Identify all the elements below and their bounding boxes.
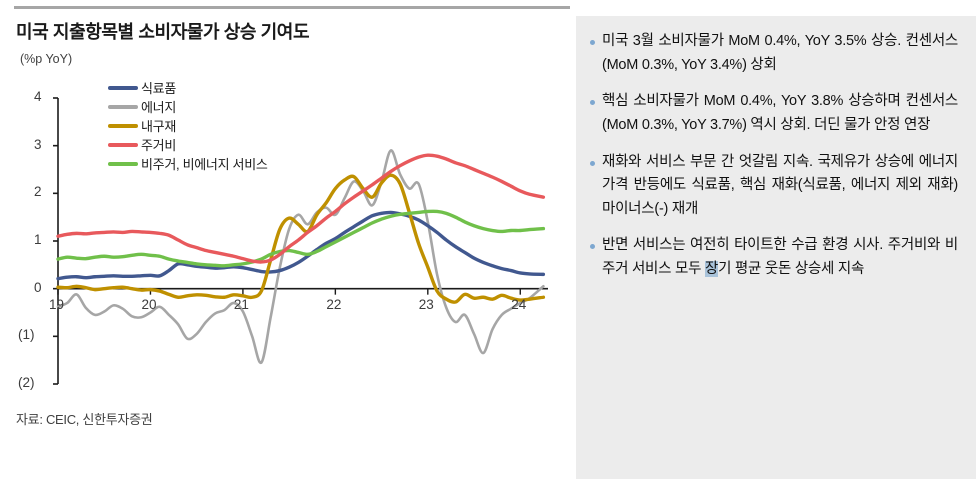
- legend-item-3: 주거비: [108, 135, 268, 154]
- y-tick-label: (1): [18, 327, 35, 342]
- y-tick-label: 2: [34, 184, 42, 199]
- legend-swatch-icon: [108, 105, 138, 109]
- chart-legend: 식료품에너지내구재주거비비주거, 비에너지 서비스: [108, 78, 268, 173]
- legend-item-0: 식료품: [108, 78, 268, 97]
- x-tick-label: 24: [511, 297, 526, 312]
- bullet-text: 재화와 서비스 부문 간 엇갈림 지속. 국제유가 상승에 에너지 가격 반등에…: [602, 151, 958, 222]
- bullet-text: 핵심 소비자물가 MoM 0.4%, YoY 3.8% 상승하며 컨센서스(Mo…: [602, 90, 958, 137]
- chart-panel: 미국 지출항목별 소비자물가 상승 기여도 (%p YoY) 식료품에너지내구재…: [0, 0, 576, 486]
- bullet-core-cpi: 핵심 소비자물가 MoM 0.4%, YoY 3.8% 상승하며 컨센서스(Mo…: [590, 90, 958, 137]
- series-line-0: [58, 212, 543, 278]
- bullet-headline-cpi: 미국 3월 소비자물가 MoM 0.4%, YoY 3.5% 상승. 컨센서스(…: [590, 30, 958, 77]
- bullet-services-tight: 반면 서비스는 여전히 타이트한 수급 환경 시사. 주거비와 비주거 서비스 …: [590, 234, 958, 281]
- legend-item-4: 비주거, 비에너지 서비스: [108, 154, 268, 173]
- y-tick-label: 1: [34, 232, 42, 247]
- commentary-panel: 미국 3월 소비자물가 MoM 0.4%, YoY 3.5% 상승. 컨센서스(…: [576, 16, 976, 479]
- y-tick-label: 4: [34, 89, 42, 104]
- y-tick-label: 0: [34, 280, 42, 295]
- legend-label: 내구재: [141, 116, 176, 135]
- y-tick-label: (2): [18, 375, 35, 390]
- legend-item-1: 에너지: [108, 97, 268, 116]
- bullet-dot-icon: [590, 100, 595, 105]
- x-tick-label: 22: [326, 297, 341, 312]
- x-tick-label: 21: [234, 297, 249, 312]
- legend-swatch-icon: [108, 86, 138, 90]
- selected-text-highlight: 장: [705, 261, 718, 277]
- legend-label: 에너지: [141, 97, 176, 116]
- bullet-dot-icon: [590, 244, 595, 249]
- x-tick-label: 20: [141, 297, 156, 312]
- slide-root: 미국 지출항목별 소비자물가 상승 기여도 (%p YoY) 식료품에너지내구재…: [0, 0, 976, 486]
- bullet-text: 미국 3월 소비자물가 MoM 0.4%, YoY 3.5% 상승. 컨센서스(…: [602, 30, 958, 77]
- x-tick-label: 19: [49, 297, 64, 312]
- source-note: 자료: CEIC, 신한투자증권: [16, 409, 152, 428]
- legend-swatch-icon: [108, 124, 138, 128]
- bullet-dot-icon: [590, 161, 595, 166]
- legend-label: 주거비: [141, 135, 176, 154]
- legend-swatch-icon: [108, 162, 138, 166]
- bullet-text: 반면 서비스는 여전히 타이트한 수급 환경 시사. 주거비와 비주거 서비스 …: [602, 234, 958, 281]
- y-tick-label: 3: [34, 137, 42, 152]
- legend-label: 식료품: [141, 78, 176, 97]
- bullet-dot-icon: [590, 40, 595, 45]
- legend-swatch-icon: [108, 143, 138, 147]
- legend-item-2: 내구재: [108, 116, 268, 135]
- bullet-goods-services: 재화와 서비스 부문 간 엇갈림 지속. 국제유가 상승에 에너지 가격 반등에…: [590, 151, 958, 222]
- legend-label: 비주거, 비에너지 서비스: [141, 154, 268, 173]
- x-tick-label: 23: [419, 297, 434, 312]
